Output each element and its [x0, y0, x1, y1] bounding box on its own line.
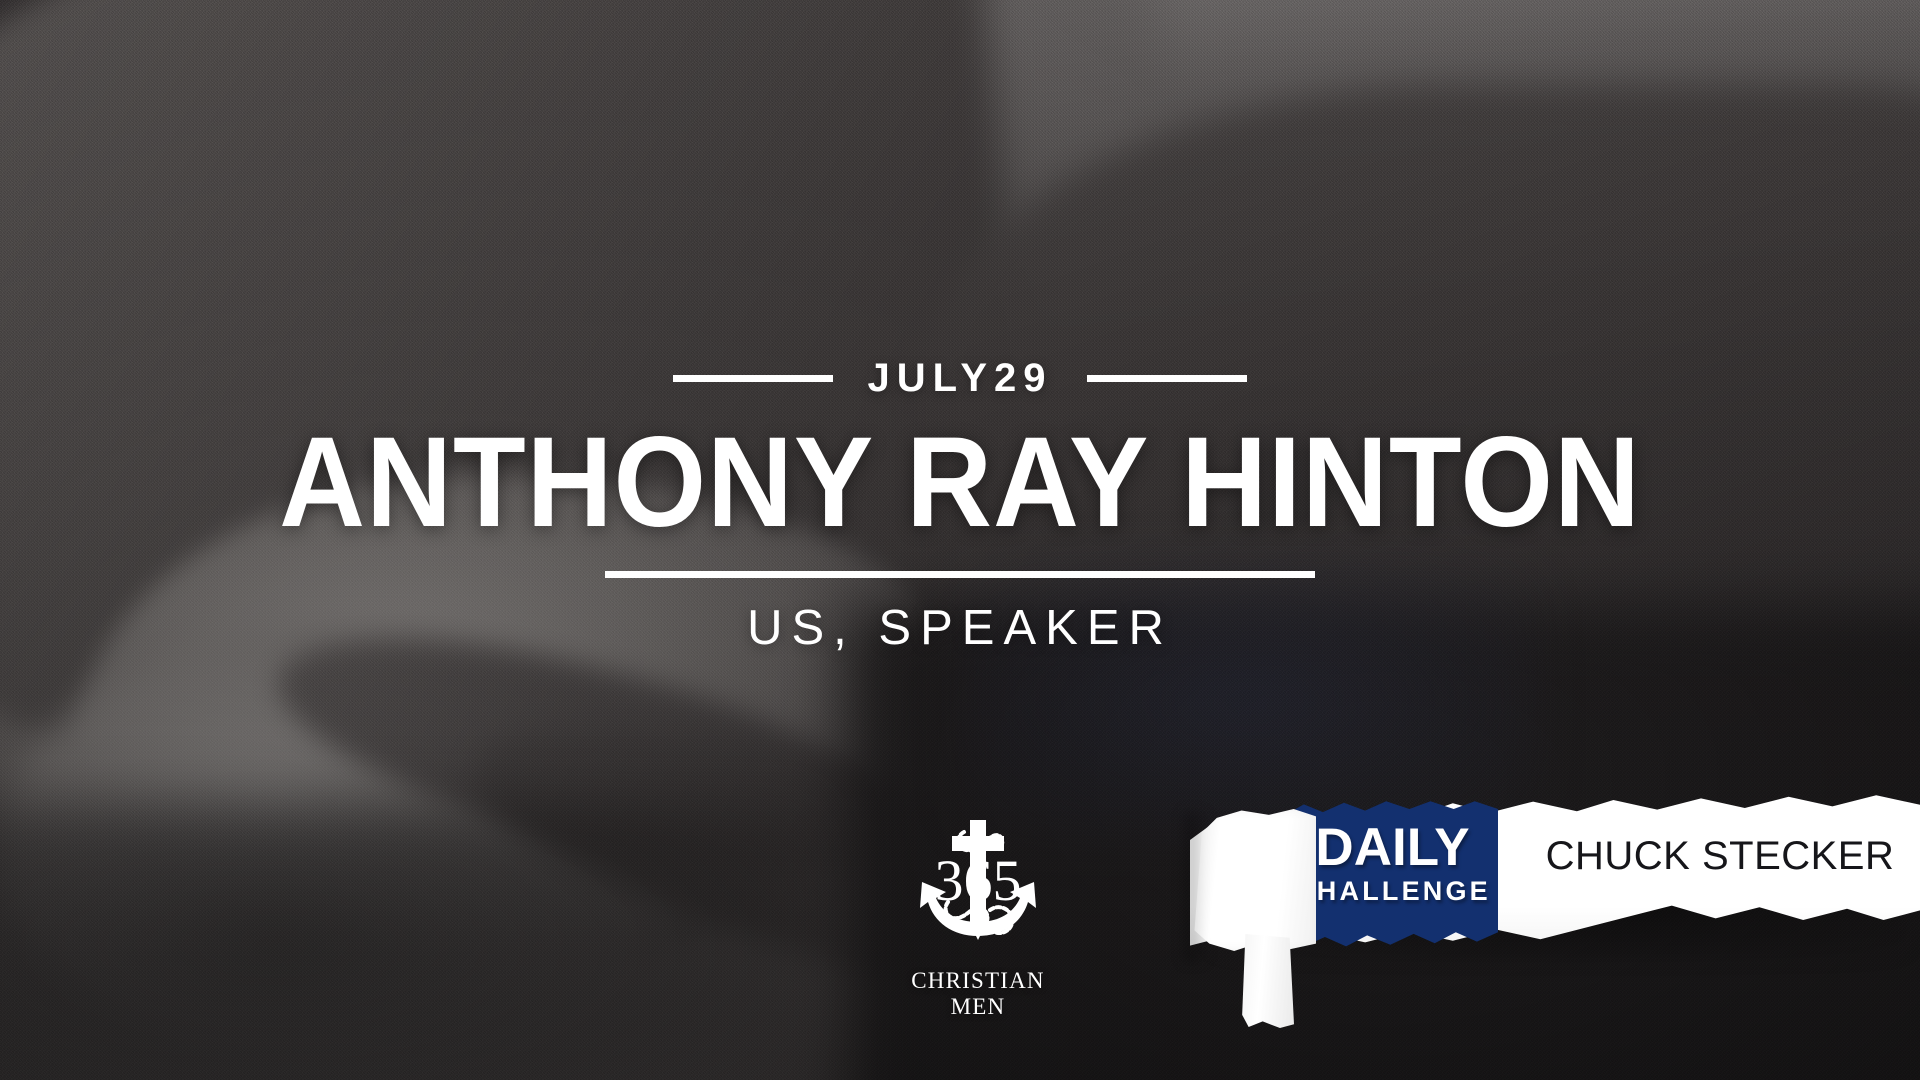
title-divider-rule: [605, 571, 1315, 578]
daily-challenge-badge: DAILY CHALLENGE: [1287, 795, 1498, 951]
speaker-name-title: ANTHONY RAY HINTON: [67, 418, 1853, 549]
svg-text:365: 365: [935, 848, 1022, 913]
date-row: JULY29: [0, 352, 1920, 404]
torn-paper-curl: [1184, 806, 1316, 1024]
speaker-role-label: US, SPEAKER: [0, 604, 1920, 653]
date-label: JULY29: [867, 358, 1052, 398]
badge-label-challenge: CHALLENGE: [1287, 878, 1498, 905]
slide-canvas: JULY29 ANTHONY RAY HINTON US, SPEAKER: [0, 0, 1920, 1080]
date-rule-left: [673, 375, 833, 382]
logo-wordmark: CHRISTIAN MEN: [898, 968, 1058, 1020]
daily-challenge-badge-text: DAILY CHALLENGE: [1287, 823, 1498, 905]
badge-label-daily: DAILY: [1287, 823, 1498, 874]
date-rule-right: [1087, 375, 1247, 382]
anchor-cross-icon: 365: [898, 818, 1058, 966]
paper-curl-body: [1192, 806, 1316, 954]
logo-word-men: MEN: [898, 994, 1058, 1020]
title-block: JULY29 ANTHONY RAY HINTON US, SPEAKER: [0, 352, 1920, 653]
logo-365-christian-men: 365 CHRISTIAN MEN: [898, 818, 1058, 1020]
daily-challenge-banner: DAILY CHALLENGE CHUCK STECKER: [1190, 792, 1920, 1080]
logo-word-christian: CHRISTIAN: [898, 968, 1058, 994]
paper-curl-tab: [1240, 934, 1294, 1028]
banner-speaker-name: CHUCK STECKER: [1530, 836, 1910, 876]
